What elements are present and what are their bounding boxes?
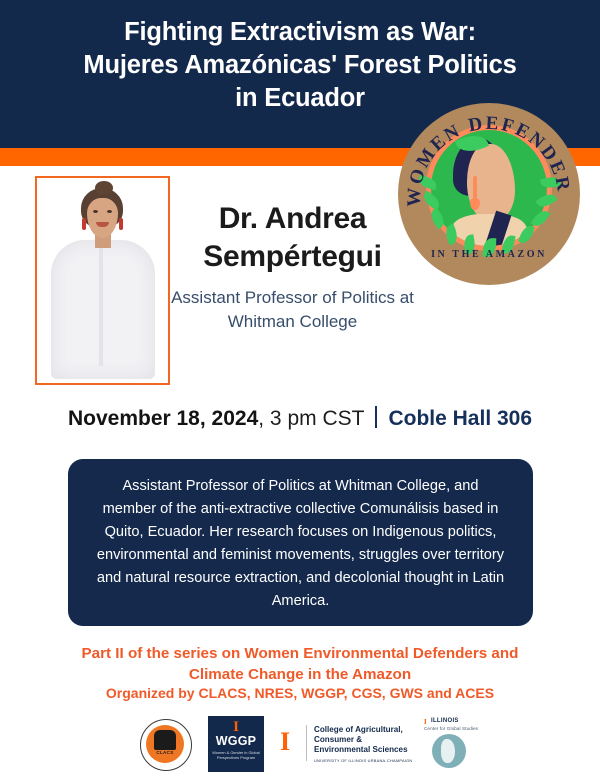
wggp-logo: I WGGP Women & Gender in Global Perspect… bbox=[208, 716, 264, 772]
speaker-name-line-2: Sempértegui bbox=[203, 240, 381, 273]
photo-earring-right bbox=[119, 218, 123, 230]
wggp-tagline: Women & Gender in Global Perspectives Pr… bbox=[208, 749, 264, 760]
photo-shirt-placket bbox=[99, 246, 103, 366]
cgs-illinois-label: ILLINOIS bbox=[431, 718, 459, 724]
aces-divider bbox=[306, 725, 307, 761]
event-time: , 3 pm CST bbox=[258, 407, 364, 430]
cgs-logo: I ILLINOIS Center for Global Studies bbox=[418, 716, 480, 772]
series-title: Part II of the series on Women Environme… bbox=[20, 643, 580, 685]
globe-landmass bbox=[441, 739, 455, 763]
series-line-2: Climate Change in the Amazon bbox=[189, 666, 411, 683]
speaker-bio-box: Assistant Professor of Politics at Whitm… bbox=[68, 459, 533, 626]
detail-divider bbox=[375, 406, 377, 428]
photo-face bbox=[87, 198, 118, 238]
photo-eye-right bbox=[107, 210, 112, 213]
aces-logo: I College of Agricultural, Consumer & En… bbox=[280, 721, 410, 767]
svg-text:WOMEN DEFENDERS: WOMEN DEFENDERS bbox=[398, 103, 574, 207]
aces-line-3: Environmental Sciences bbox=[314, 745, 408, 754]
wggp-name: WGGP bbox=[208, 734, 264, 749]
women-defenders-seal-icon: WOMEN DEFENDERS IN THE AMAZON bbox=[398, 103, 580, 285]
clacs-logo: CLACS bbox=[138, 717, 192, 771]
clacs-label: CLACS bbox=[138, 750, 192, 755]
cgs-sub-label: Center for Global Studies bbox=[424, 726, 478, 731]
event-venue: Coble Hall 306 bbox=[388, 407, 532, 430]
title-line-2: Mujeres Amazónicas' Forest Politics bbox=[30, 49, 570, 82]
sponsor-logo-row: CLACS I WGGP Women & Gender in Global Pe… bbox=[0, 716, 600, 774]
illinois-block-i-icon: I bbox=[424, 718, 427, 726]
photo-earring-left bbox=[82, 218, 86, 230]
speaker-bio-text: Assistant Professor of Politics at Whitm… bbox=[94, 475, 507, 613]
title-line-1: Fighting Extractivism as War: bbox=[30, 16, 570, 49]
photo-hair-bun bbox=[95, 181, 113, 195]
globe-icon bbox=[432, 734, 466, 768]
event-poster: Fighting Extractivism as War: Mujeres Am… bbox=[0, 0, 600, 777]
aces-line-2: Consumer & bbox=[314, 735, 362, 744]
clacs-figure-icon bbox=[154, 730, 176, 750]
aces-university-line: UNIVERSITY OF ILLINOIS URBANA-CHAMPAIGN bbox=[314, 758, 414, 763]
aces-line-1: College of Agricultural, bbox=[314, 725, 403, 734]
illinois-block-i-icon: I bbox=[208, 720, 264, 734]
photo-eye-left bbox=[93, 210, 98, 213]
event-details-row: November 18, 2024, 3 pm CSTCoble Hall 30… bbox=[0, 406, 600, 431]
speaker-photo bbox=[37, 178, 164, 379]
speaker-photo-frame bbox=[35, 176, 170, 385]
organizers-line: Organized by CLACS, NRES, WGGP, CGS, GWS… bbox=[20, 685, 580, 701]
speaker-name: Dr. Andrea Sempértegui bbox=[175, 200, 410, 276]
seal-bottom-label: IN THE AMAZON bbox=[398, 249, 580, 260]
photo-shirt bbox=[51, 240, 155, 379]
event-date: November 18, 2024 bbox=[68, 407, 258, 430]
series-line-1: Part II of the series on Women Environme… bbox=[82, 645, 519, 662]
aces-name: College of Agricultural, Consumer & Envi… bbox=[314, 725, 410, 756]
page-title: Fighting Extractivism as War: Mujeres Am… bbox=[30, 16, 570, 115]
speaker-name-line-1: Dr. Andrea bbox=[219, 202, 367, 235]
illinois-block-i-icon: I bbox=[280, 729, 290, 755]
speaker-role: Assistant Professor of Politics at Whitm… bbox=[170, 286, 415, 334]
